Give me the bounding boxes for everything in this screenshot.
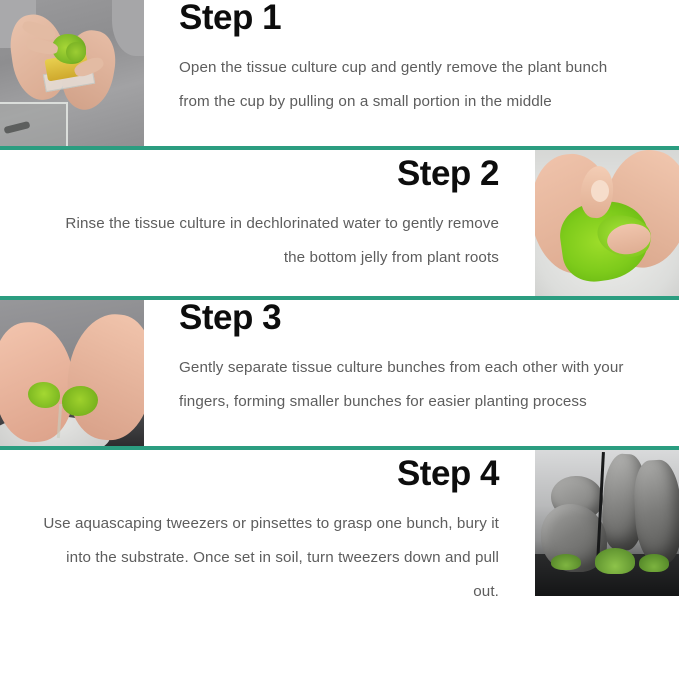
- step-4-text-column: Step 4 Use aquascaping tweezers or pinse…: [0, 450, 535, 609]
- step-2-title: Step 2: [40, 150, 499, 193]
- step-4-photo: [535, 450, 679, 596]
- step-2-text-column: Step 2 Rinse the tissue culture in dechl…: [0, 150, 535, 296]
- step-block-2: Step 2 Rinse the tissue culture in dechl…: [0, 150, 679, 296]
- step-1-text-column: Step 1 Open the tissue culture cup and g…: [144, 0, 679, 146]
- step-3-text-column: Step 3 Gently separate tissue culture bu…: [144, 300, 679, 446]
- step-block-4: Step 4 Use aquascaping tweezers or pinse…: [0, 450, 679, 609]
- step-2-photo: [535, 150, 679, 296]
- step-4-body: Use aquascaping tweezers or pinsettes to…: [40, 493, 499, 609]
- step-4-title: Step 4: [40, 450, 499, 493]
- step-block-3: Step 3 Gently separate tissue culture bu…: [0, 300, 679, 446]
- steps-infographic: Step 1 Open the tissue culture cup and g…: [0, 0, 679, 683]
- step-block-1: Step 1 Open the tissue culture cup and g…: [0, 0, 679, 146]
- step-1-photo: [0, 0, 144, 146]
- step-3-photo: [0, 300, 144, 446]
- step-3-title: Step 3: [179, 300, 624, 337]
- step-3-body: Gently separate tissue culture bunches f…: [179, 337, 624, 419]
- step-2-body: Rinse the tissue culture in dechlorinate…: [40, 193, 499, 275]
- step-1-body: Open the tissue culture cup and gently r…: [179, 37, 624, 119]
- step-1-title: Step 1: [179, 0, 624, 37]
